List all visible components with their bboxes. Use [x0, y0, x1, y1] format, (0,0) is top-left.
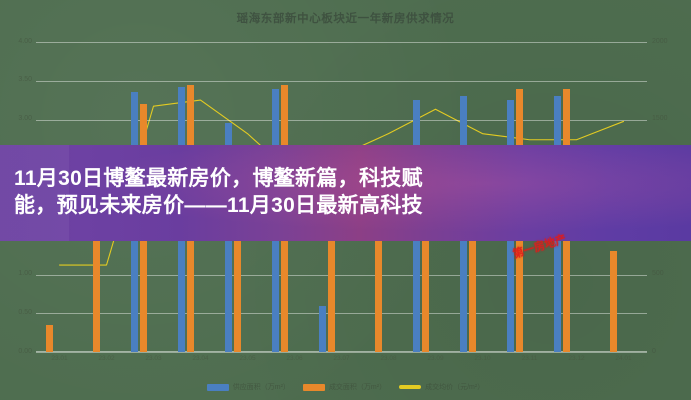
y-axis-right-tick: 1500 — [647, 115, 668, 122]
chart-container: 瑶海东部新中心板块近一年新房供求情况 4.003.503.002.502.001… — [0, 0, 691, 400]
x-axis-tick: 23.12 — [568, 355, 584, 362]
y-axis-left-tick: 0.00 — [18, 348, 36, 355]
y-axis-left-tick: 4.00 — [18, 38, 36, 45]
x-axis-tick: 23.01 — [51, 355, 67, 362]
bar-deal-area — [610, 251, 617, 352]
x-axis-tick: 23.07 — [333, 355, 349, 362]
legend-swatch-icon — [207, 384, 229, 391]
headline-text-line-1: 11月30日博鳌最新房价，博鳌新篇，科技赋 — [14, 166, 677, 193]
x-axis-tick: 23.04 — [192, 355, 208, 362]
chart-title: 瑶海东部新中心板块近一年新房供求情况 — [0, 10, 691, 26]
legend-item[interactable]: 成交均价（元/m²） — [399, 382, 484, 392]
headline-overlay-banner: 11月30日博鳌最新房价，博鳌新篇，科技赋 能，预见未来房价——11月30日最新… — [0, 145, 691, 241]
x-axis-tick: 23.11 — [522, 355, 538, 362]
x-axis-tick: 23.08 — [380, 355, 396, 362]
y-axis-left-tick: 1.00 — [18, 270, 36, 277]
bar-deal-area — [234, 236, 241, 352]
chart-legend: 供应面积（万m²）成交面积（万m²）成交均价（元/m²） — [0, 382, 691, 392]
x-axis-tick: 23.03 — [145, 355, 161, 362]
legend-label: 成交面积（万m²） — [329, 382, 386, 392]
gridline — [36, 352, 647, 353]
x-axis-tick: 23.09 — [427, 355, 443, 362]
bar-deal-area — [375, 240, 382, 352]
legend-swatch-icon — [303, 384, 325, 391]
legend-label: 供应面积（万m²） — [233, 382, 290, 392]
legend-item[interactable]: 成交面积（万m²） — [303, 382, 386, 392]
y-axis-right-tick: 2000 — [647, 38, 668, 45]
legend-swatch-icon — [399, 385, 421, 389]
y-axis-left-tick: 0.50 — [18, 309, 36, 316]
x-axis-tick: 24.01 — [615, 355, 631, 362]
bar-deal-area — [328, 232, 335, 352]
bar-supply-area — [319, 306, 326, 353]
legend-item[interactable]: 供应面积（万m²） — [207, 382, 290, 392]
legend-label: 成交均价（元/m²） — [425, 382, 484, 392]
x-axis-tick: 23.06 — [286, 355, 302, 362]
y-axis-left-tick: 3.00 — [18, 115, 36, 122]
x-axis-tick: 23.05 — [239, 355, 255, 362]
x-axis-tick: 23.10 — [474, 355, 490, 362]
x-axis-tick: 23.02 — [98, 355, 114, 362]
headline-text-line-2: 能，预见未来房价——11月30日最新高科技 — [14, 193, 677, 220]
y-axis-left-tick: 3.50 — [18, 76, 36, 83]
y-axis-right-tick: 500 — [647, 270, 664, 277]
bar-deal-area — [46, 325, 53, 352]
y-axis-right-tick: 0 — [647, 348, 656, 355]
bar-deal-area — [422, 240, 429, 352]
